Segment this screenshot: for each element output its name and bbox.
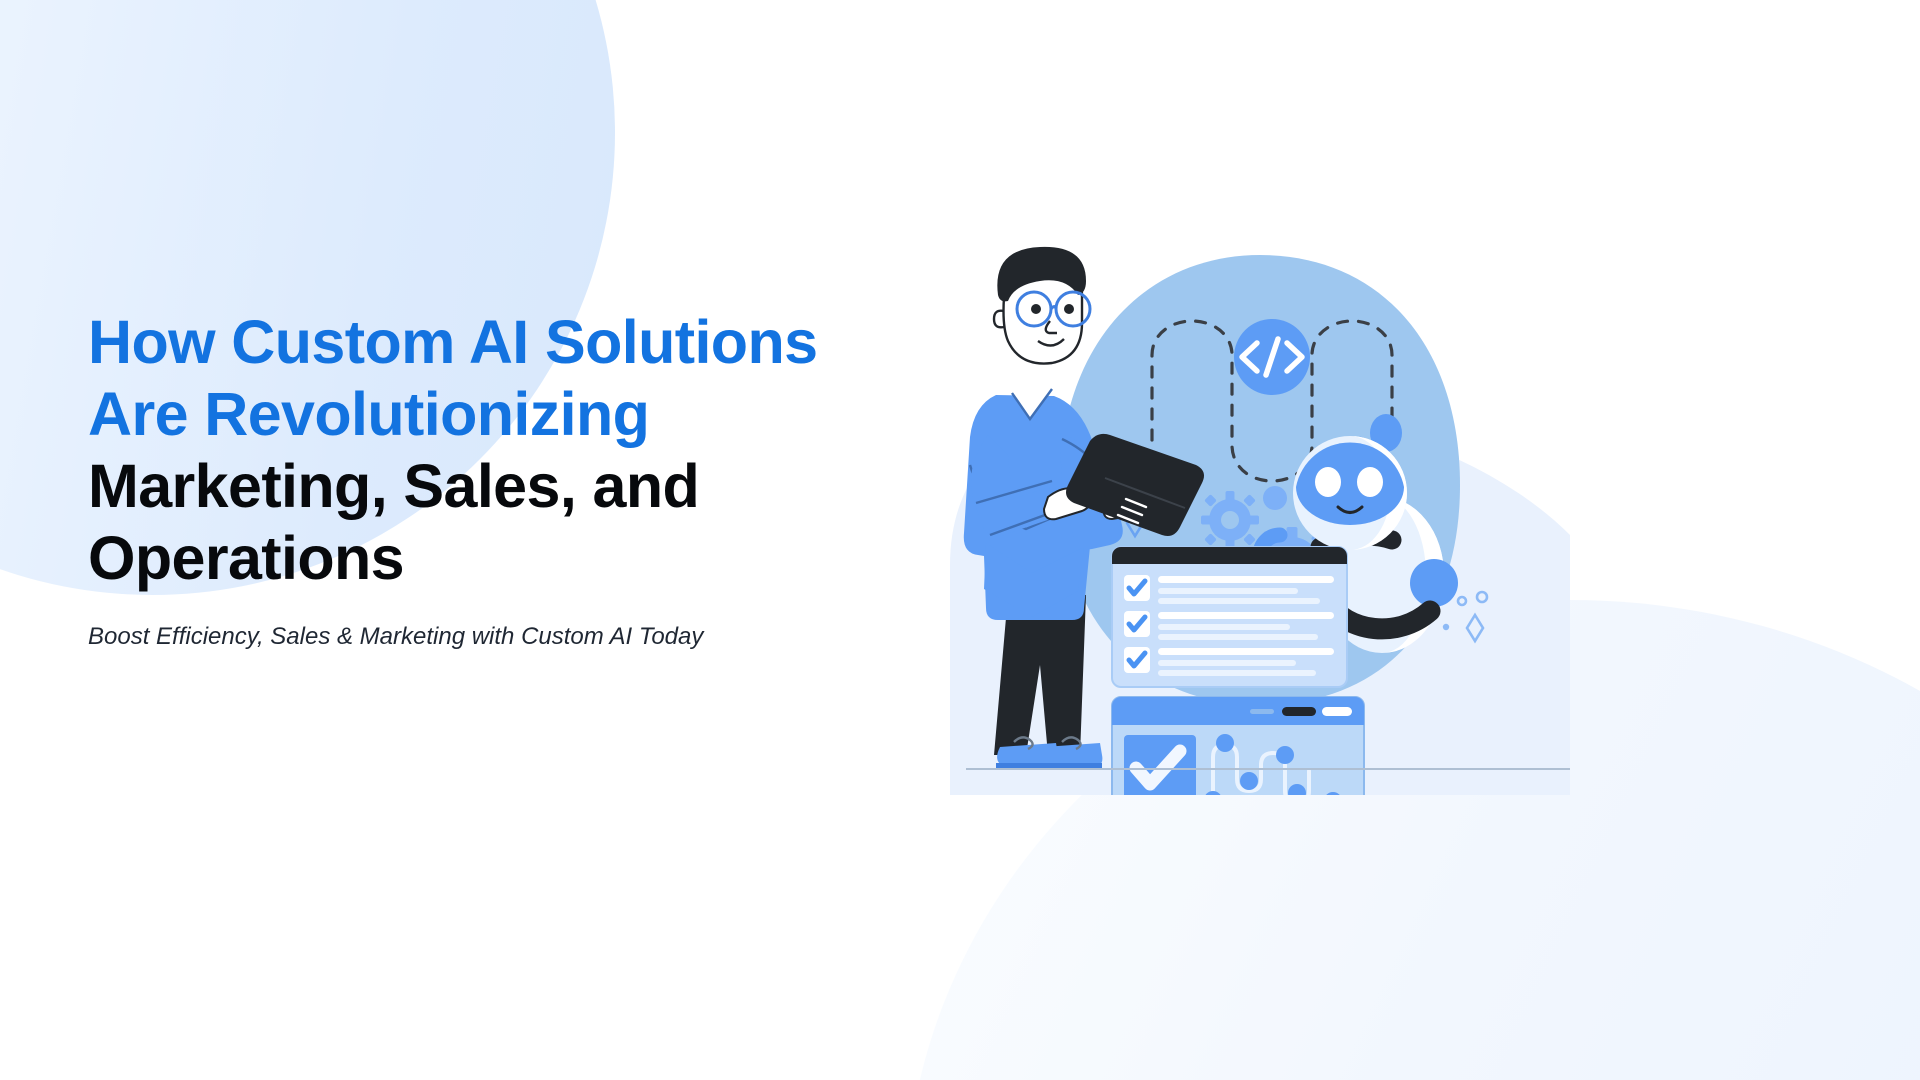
- dashboard-card: [1112, 697, 1364, 795]
- page-subtitle: Boost Efficiency, Sales & Marketing with…: [88, 620, 728, 654]
- checklist-card: [1112, 547, 1347, 687]
- headline-line-2: Are Revolutionizing: [88, 380, 649, 448]
- headline-line-3: Marketing, Sales, and: [88, 452, 699, 520]
- hero-illustration: [930, 235, 1590, 795]
- headline-line-1: How Custom AI Solutions: [88, 308, 817, 376]
- code-icon: [1234, 319, 1310, 395]
- hero-copy: How Custom AI Solutions Are Revolutioniz…: [88, 306, 968, 654]
- hero-banner: How Custom AI Solutions Are Revolutioniz…: [0, 0, 1920, 1080]
- page-title: How Custom AI Solutions Are Revolutioniz…: [88, 306, 968, 594]
- headline-line-4: Operations: [88, 524, 404, 592]
